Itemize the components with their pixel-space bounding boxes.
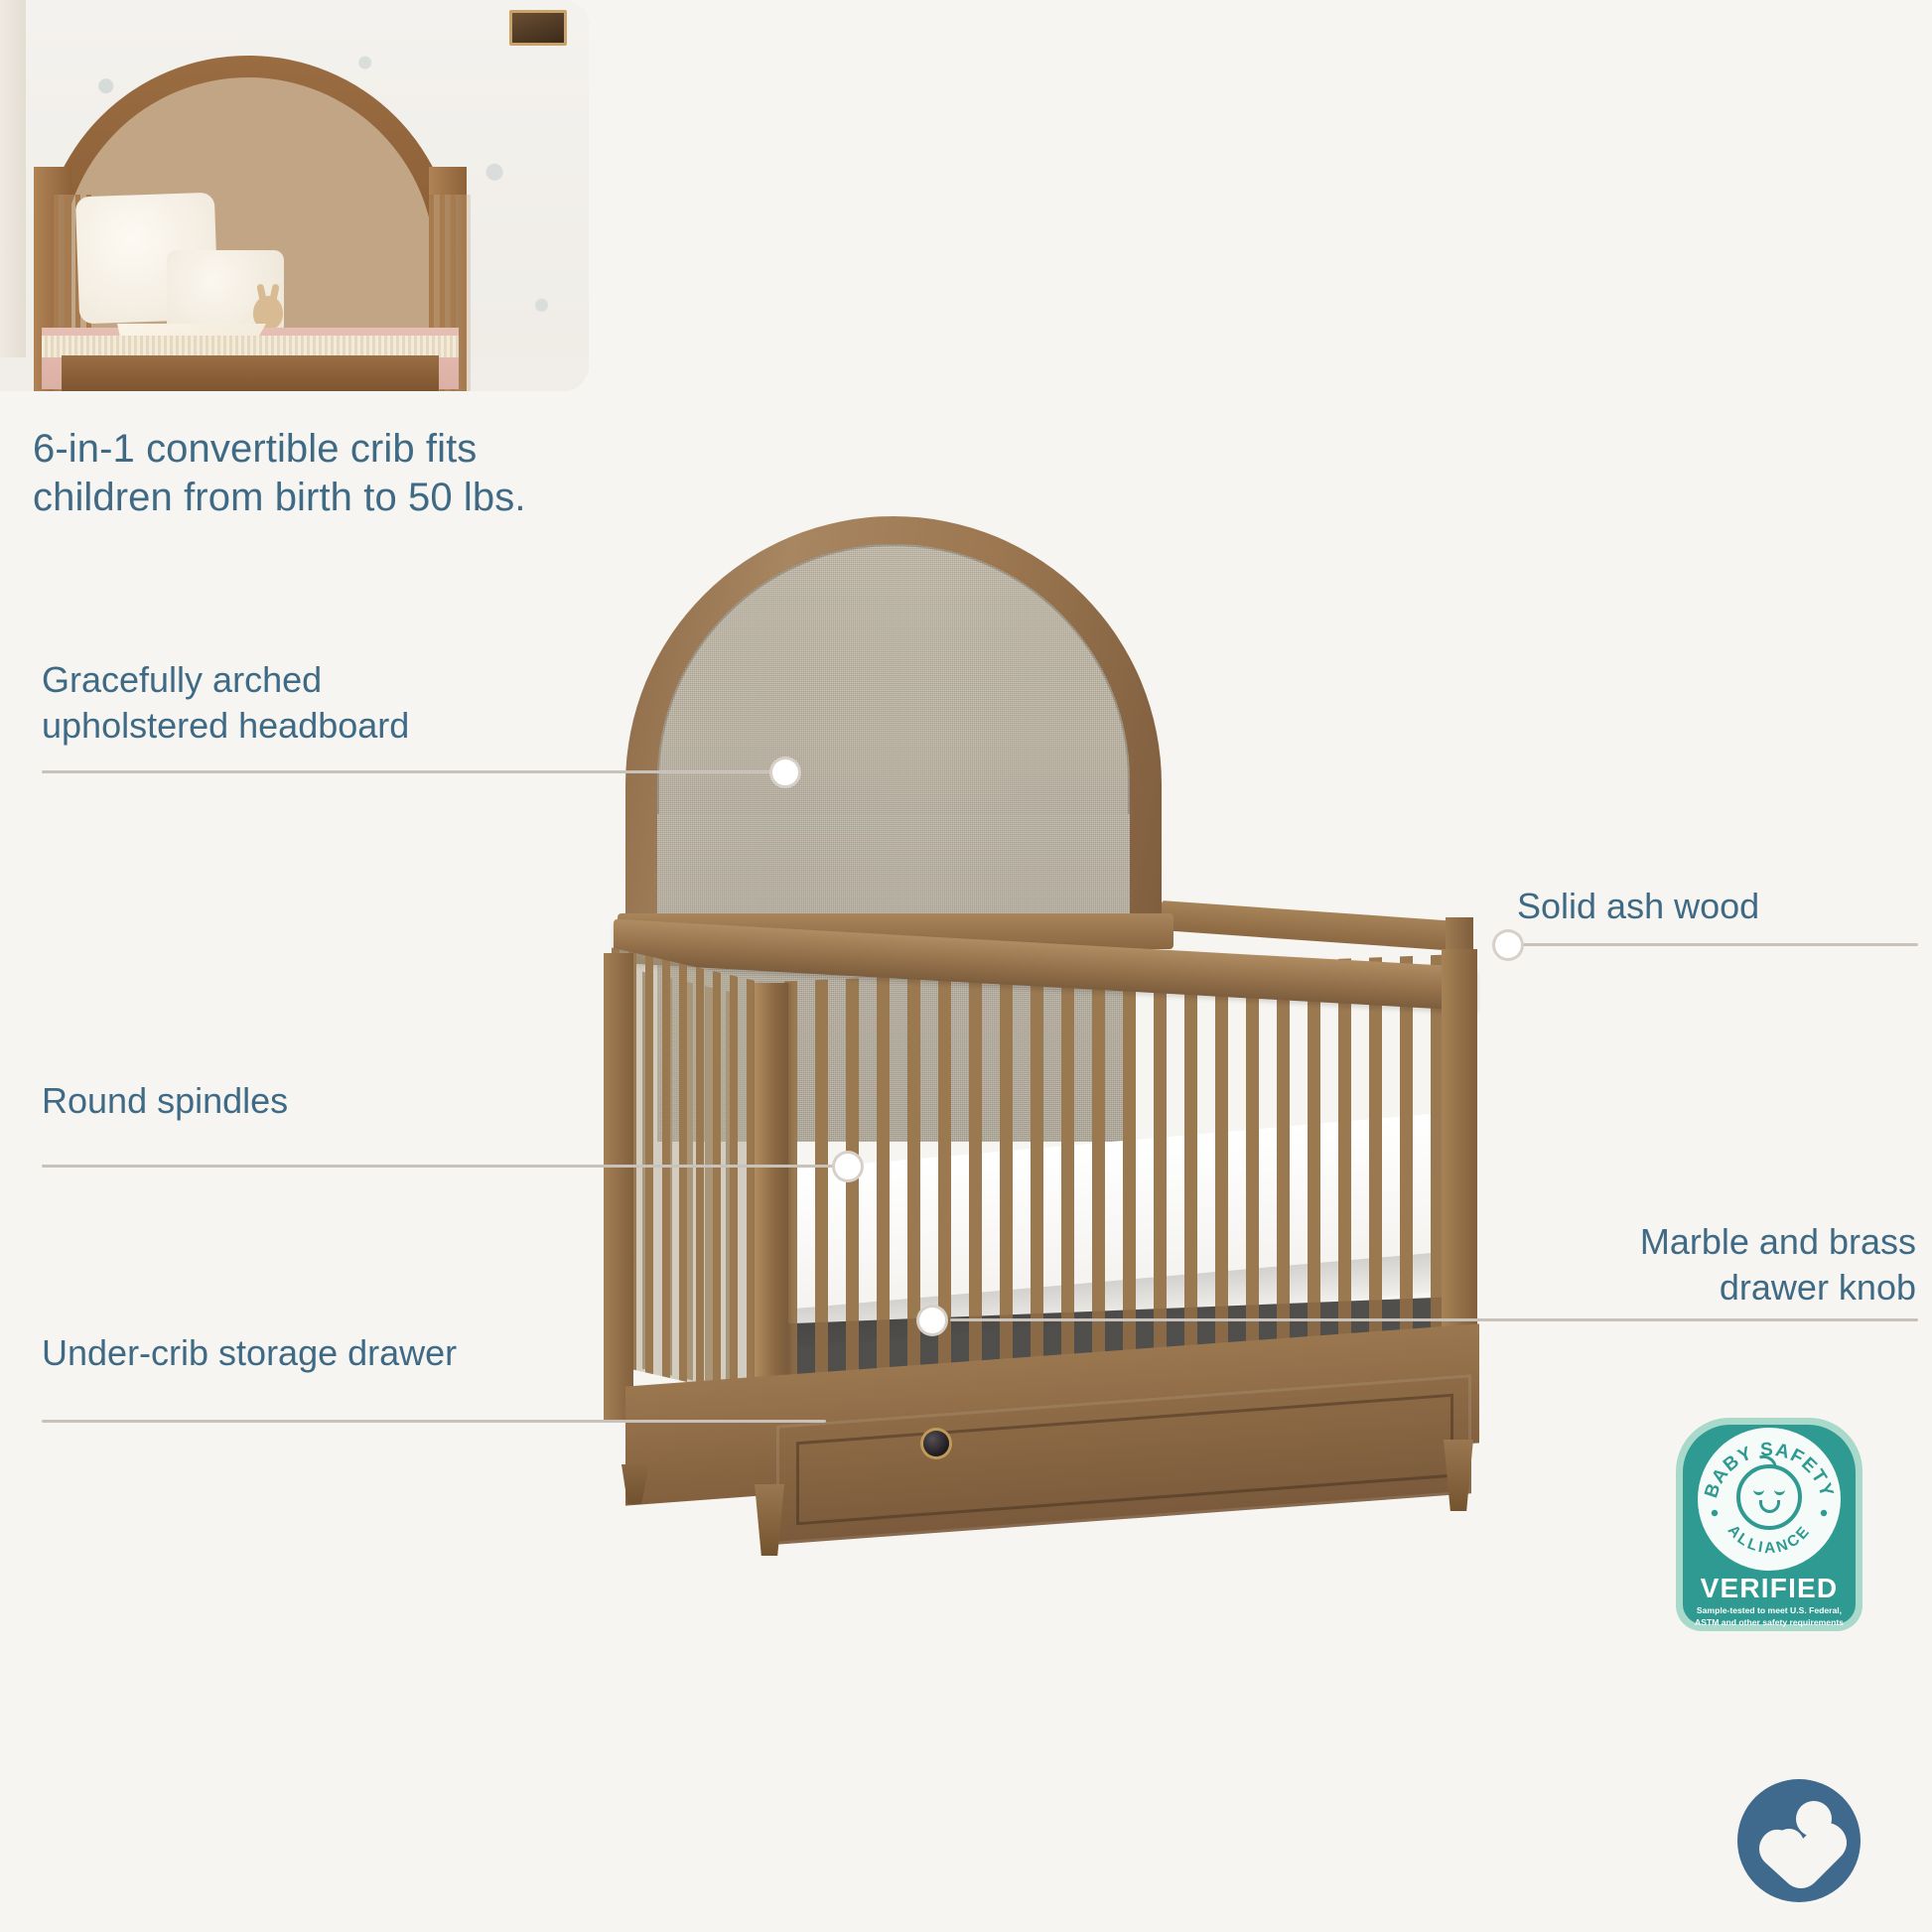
framed-artwork <box>509 10 567 46</box>
callout-line-ash-wood <box>1517 943 1918 946</box>
badge-verified-text: VERIFIED <box>1676 1573 1863 1604</box>
callout-line-spindles <box>42 1165 846 1168</box>
door-frame <box>0 0 26 391</box>
baby-safety-alliance-verified-badge[interactable]: BABY SAFETY ALLIANCE VERIFIED Sample-tes… <box>1676 1418 1863 1631</box>
baby-eye-left-icon <box>1753 1488 1764 1495</box>
thumbnail-footboard <box>62 355 439 391</box>
callout-line-drawer <box>42 1420 826 1423</box>
badge-fine-print-line2: ASTM and other safety requirements <box>1690 1617 1849 1629</box>
parent-and-baby-logo[interactable] <box>1735 1777 1863 1904</box>
side-panel-spindles <box>612 947 762 1399</box>
callout-dot-headboard[interactable] <box>772 759 798 785</box>
callout-label-headboard: Gracefully arched upholstered headboard <box>42 657 558 749</box>
back-top-rail <box>1162 900 1471 952</box>
baby-face-icon <box>1736 1464 1802 1530</box>
post-left-rear <box>604 953 633 1420</box>
marble-brass-drawer-knob[interactable] <box>923 1431 949 1456</box>
crib-product-image <box>427 516 1529 1271</box>
baby-eye-right-icon <box>1774 1488 1785 1495</box>
callout-line-knob <box>950 1318 1918 1321</box>
callout-dot-spindles[interactable] <box>835 1154 861 1179</box>
daybed-conversion-thumbnail[interactable] <box>0 0 589 391</box>
callout-headboard-line2: upholstered headboard <box>42 703 558 749</box>
baby-smile-icon <box>1759 1500 1780 1513</box>
callout-label-spindles: Round spindles <box>42 1078 558 1124</box>
callout-label-drawer: Under-crib storage drawer <box>42 1330 598 1376</box>
badge-dot-left <box>1712 1510 1718 1516</box>
callout-knob-line1: Marble and brass <box>1467 1219 1916 1265</box>
callout-headboard-line1: Gracefully arched <box>42 657 558 703</box>
badge-dot-right <box>1821 1510 1827 1516</box>
callout-label-knob: Marble and brass drawer knob <box>1467 1219 1916 1311</box>
callout-dot-ash-wood[interactable] <box>1495 932 1521 958</box>
callout-line-headboard <box>42 770 784 773</box>
badge-fine-print-line1: Sample-tested to meet U.S. Federal, <box>1690 1605 1849 1617</box>
badge-fine-print: Sample-tested to meet U.S. Federal, ASTM… <box>1690 1605 1849 1628</box>
infographic-canvas: 6-in-1 convertible crib fits children fr… <box>0 0 1932 1932</box>
callout-knob-line2: drawer knob <box>1467 1265 1916 1311</box>
callout-dot-knob[interactable] <box>919 1308 945 1333</box>
callout-label-ash-wood: Solid ash wood <box>1517 884 1914 929</box>
thumbnail-blanket-fringe <box>42 336 459 357</box>
headline-text: 6-in-1 convertible crib fits children fr… <box>33 425 589 522</box>
